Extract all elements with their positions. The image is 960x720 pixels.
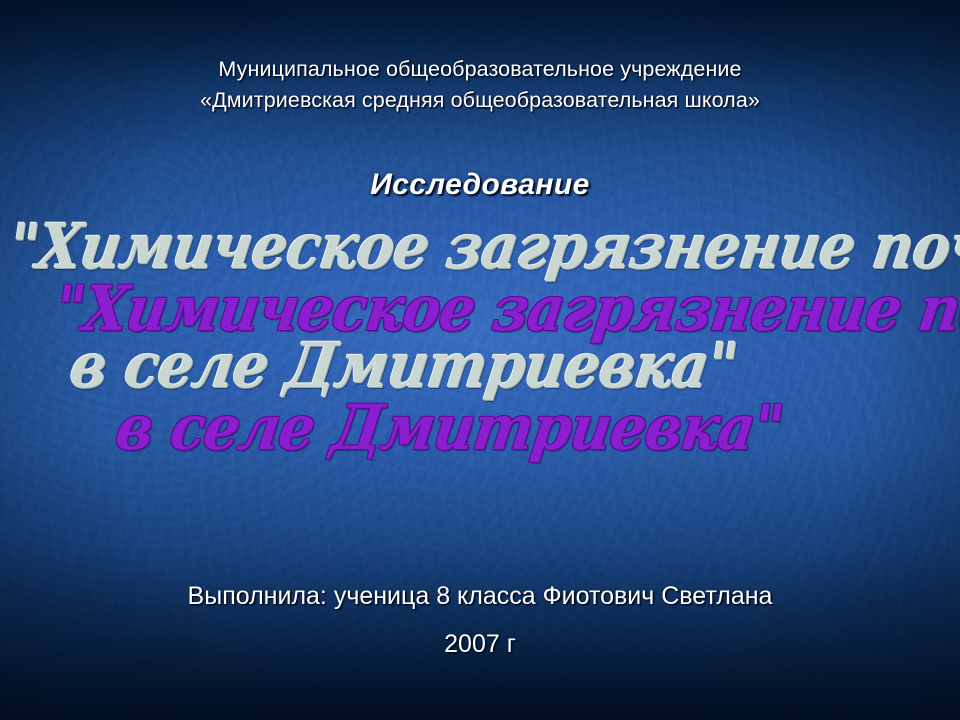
organization-line-2: «Дмитриевская средняя общеобразовательна…	[0, 85, 960, 116]
year-line: 2007 г	[0, 620, 960, 668]
wordart-title-front-layer: "Химическое загрязнение почв в селе Дмит…	[35, 280, 960, 458]
wordart-front-line-2: в селе Дмитриевка"	[35, 399, 960, 458]
wordart-title-group: "Химическое загрязнение почв в селе Дмит…	[0, 212, 960, 512]
organization-heading: Муниципальное общеобразовательное учрежд…	[0, 54, 960, 116]
organization-line-1: Муниципальное общеобразовательное учрежд…	[0, 54, 960, 85]
author-name-line: Выполнила: ученица 8 класса Фиотович Све…	[0, 572, 960, 620]
presentation-slide: Муниципальное общеобразовательное учрежд…	[0, 0, 960, 720]
research-subtitle: Исследование	[0, 168, 960, 202]
wordart-front-line-1: "Химическое загрязнение почв	[52, 280, 960, 339]
author-credit-block: Выполнила: ученица 8 класса Фиотович Све…	[0, 572, 960, 668]
slide-content: Муниципальное общеобразовательное учрежд…	[0, 0, 960, 720]
wordart-back-line-1: "Химическое загрязнение почв	[6, 218, 960, 277]
